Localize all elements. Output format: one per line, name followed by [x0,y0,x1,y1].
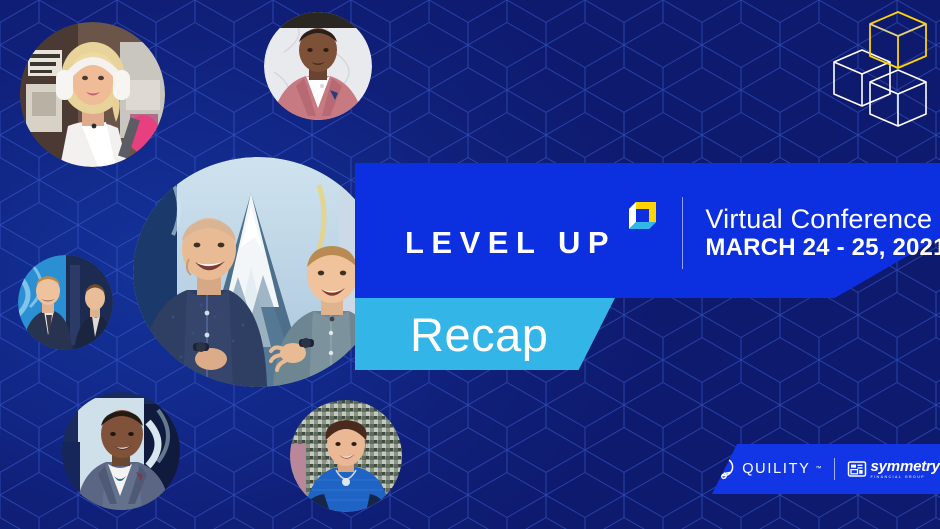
symmetry-logo: symmetry FINANCIAL GROUP [847,459,940,480]
sponsor-logo-bar: QUILITY ™ symmetry FINANCIAL GROUP [712,444,940,494]
photo-stage-duo-suits [18,255,113,350]
page-title: LEVEL UP [405,225,616,261]
symmetry-tagline: FINANCIAL GROUP [871,476,940,480]
logo-bar-divider [834,458,835,480]
quility-trademark: ™ [816,466,822,472]
level-up-lockup: LEVEL UP Virtual Conference MARCH 24 - 2… [405,196,940,270]
quility-logo: QUILITY ™ [712,456,821,482]
photo-podcast-host-headshot [20,22,165,167]
conference-dates: MARCH 24 - 25, 2021 [705,235,940,262]
photo-speaker-blue-sweater [290,400,402,512]
quility-wordmark: QUILITY [742,461,810,477]
photo-main-stage-speakers [133,157,383,387]
conference-type: Virtual Conference [705,204,940,234]
recap-badge: Recap [355,298,615,370]
symmetry-mark-icon [847,459,867,479]
symmetry-text-stack: symmetry FINANCIAL GROUP [871,459,940,480]
symmetry-wordmark: symmetry [871,459,940,474]
promo-banner: LEVEL UP Virtual Conference MARCH 24 - 2… [0,0,940,529]
quility-q-mark-icon [712,456,738,482]
decorative-cubes-icon [824,6,936,146]
level-up-cube-logo-icon [622,198,664,240]
recap-label: Recap [410,311,548,358]
lockup-divider [682,197,683,269]
photo-speaker-pink-blazer [264,12,372,120]
photo-speaker-grey-blazer [62,392,180,510]
conference-info: Virtual Conference MARCH 24 - 25, 2021 [705,204,940,261]
